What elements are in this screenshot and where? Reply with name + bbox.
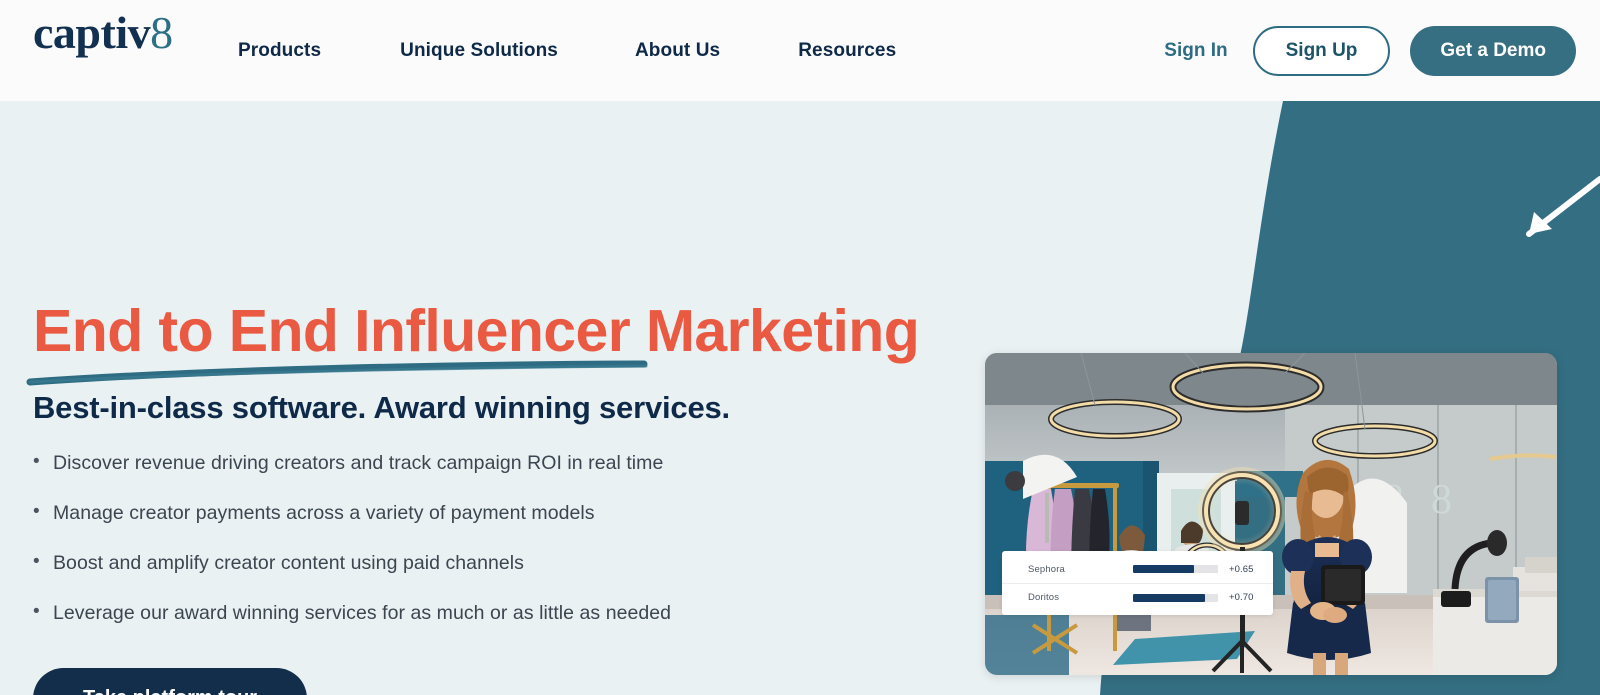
nav-item-about-us[interactable]: About Us (635, 40, 720, 62)
nav-item-unique-solutions[interactable]: Unique Solutions (400, 40, 558, 62)
sign-in-link[interactable]: Sign In (1164, 40, 1227, 62)
brand-logo[interactable]: captiv8 (33, 10, 173, 56)
hero-copy: End to End Influencer Marketing Best-in-… (33, 301, 933, 695)
get-a-demo-button[interactable]: Get a Demo (1410, 26, 1576, 76)
nav-item-products[interactable]: Products (238, 40, 321, 62)
metric-value: +0.65 (1229, 564, 1254, 575)
metric-brand-name: Doritos (1028, 592, 1133, 603)
brand-lift-metrics-card: Sephora +0.65 Doritos +0.70 (1002, 551, 1273, 615)
metric-progress-fill (1133, 594, 1205, 602)
metric-value: +0.70 (1229, 592, 1254, 603)
table-row: Sephora +0.65 (1002, 555, 1273, 583)
list-item: Boost and amplify creator content using … (33, 552, 933, 575)
sign-up-button[interactable]: Sign Up (1253, 26, 1391, 76)
headline-underline-stroke (24, 360, 674, 386)
nav-item-resources[interactable]: Resources (798, 40, 896, 62)
metric-progress-fill (1133, 565, 1194, 573)
hero-subheadline: Best-in-class software. Award winning se… (33, 390, 933, 426)
header-actions: Sign In Sign Up Get a Demo (1164, 0, 1576, 101)
svg-text:8: 8 (1431, 477, 1452, 523)
list-item: Leverage our award winning services for … (33, 602, 933, 625)
take-platform-tour-button[interactable]: Take platform tour (33, 668, 307, 695)
list-item: Discover revenue driving creators and tr… (33, 452, 933, 475)
hero-headline: End to End Influencer Marketing (33, 301, 933, 362)
metric-brand-name: Sephora (1028, 564, 1133, 575)
metric-progress-track (1133, 594, 1218, 602)
hero-media-card[interactable]: 8 8 (985, 353, 1557, 675)
metric-progress-track (1133, 565, 1218, 573)
list-item: Manage creator payments across a variety… (33, 502, 933, 525)
studio-showroom-photo: 8 8 (985, 353, 1557, 675)
main-navigation: Products Unique Solutions About Us Resou… (238, 0, 896, 101)
brand-logo-accent: 8 (150, 7, 173, 58)
table-row: Doritos +0.70 (1002, 583, 1273, 611)
hero-section: End to End Influencer Marketing Best-in-… (0, 101, 1600, 695)
brand-logo-text: captiv (33, 7, 150, 58)
site-header: captiv8 Products Unique Solutions About … (0, 0, 1600, 101)
hero-benefit-list: Discover revenue driving creators and tr… (33, 452, 933, 625)
